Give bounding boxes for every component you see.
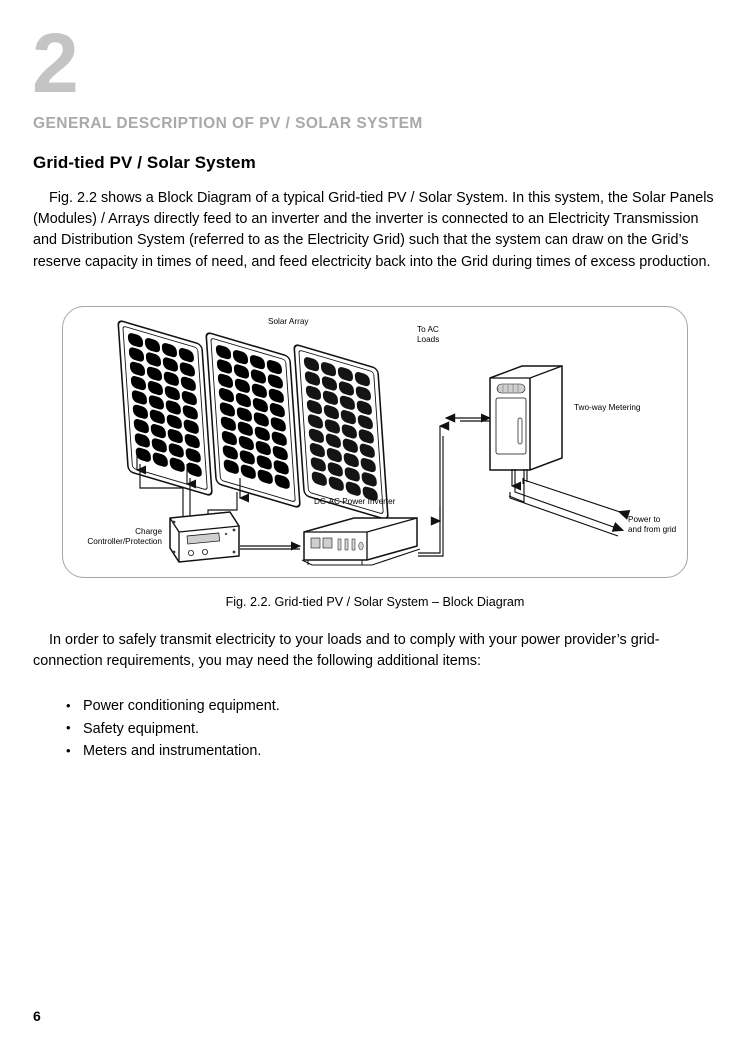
- block-diagram: Solar Array Charge C: [62, 306, 688, 578]
- list-item: Meters and instrumentation.: [62, 740, 562, 763]
- page-number: 6: [33, 1008, 41, 1024]
- list-item: Power conditioning equipment.: [62, 695, 562, 718]
- label-inverter: DC-AC Power Inverter: [314, 497, 396, 506]
- label-ac-loads-line1: To AC: [417, 325, 439, 334]
- label-two-way-metering: Two-way Metering: [574, 403, 641, 412]
- label-grid-line2: and from grid: [628, 525, 677, 534]
- label-charge-controller-line2: Controller/Protection: [87, 537, 162, 546]
- solar-array-graphic: [118, 320, 388, 520]
- chapter-title: GENERAL DESCRIPTION OF PV / SOLAR SYSTEM: [33, 115, 423, 133]
- section-heading: Grid-tied PV / Solar System: [33, 153, 256, 173]
- requirements-list: Power conditioning equipment. Safety equ…: [62, 695, 562, 763]
- label-charge-controller-line1: Charge: [135, 527, 162, 536]
- inverter-graphic: [302, 518, 420, 565]
- label-solar-array: Solar Array: [268, 317, 309, 326]
- label-ac-loads-line2: Loads: [417, 335, 439, 344]
- charge-controller-graphic: [170, 512, 239, 562]
- label-grid-line1: Power to: [628, 515, 661, 524]
- requirements-paragraph: In order to safely transmit electricity …: [33, 630, 699, 672]
- document-page: 2 GENERAL DESCRIPTION OF PV / SOLAR SYST…: [0, 0, 750, 1050]
- two-way-meter-graphic: [490, 366, 562, 470]
- intro-paragraph: Fig. 2.2 shows a Block Diagram of a typi…: [33, 188, 721, 273]
- chapter-number: 2: [32, 18, 77, 108]
- list-item: Safety equipment.: [62, 718, 562, 741]
- figure-caption: Fig. 2.2. Grid-tied PV / Solar System – …: [0, 595, 750, 609]
